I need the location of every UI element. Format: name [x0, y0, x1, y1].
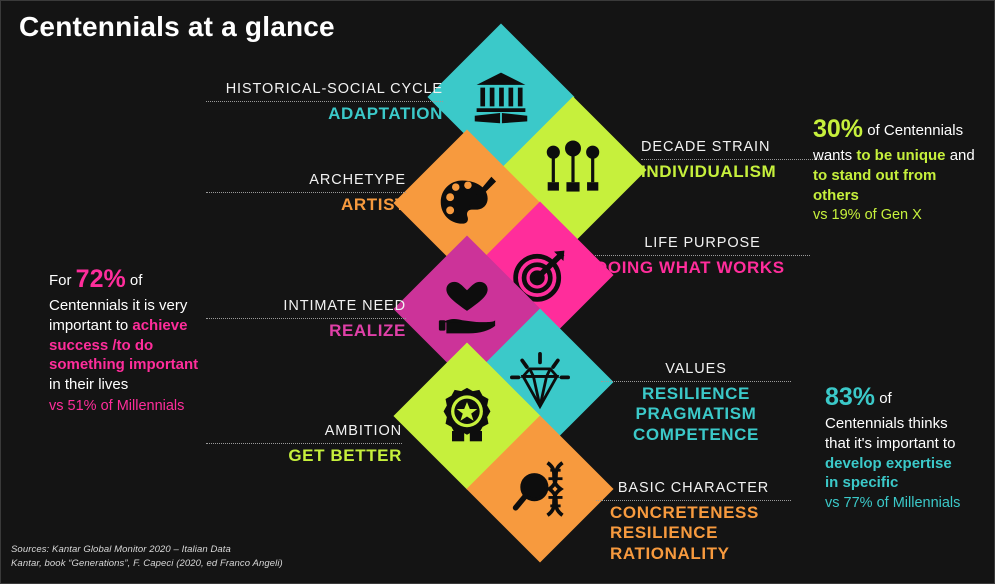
label-ambition: AMBITION GET BETTER	[206, 423, 402, 466]
label-values: VALUES RESILIENCE PRAGMATISM COMPETENCE	[601, 361, 791, 446]
label-caption: ARCHETYPE	[206, 172, 406, 189]
leader-line	[601, 381, 791, 382]
stat-line-2: Centennials thinks	[825, 414, 995, 434]
lollipop-signs-icon	[543, 140, 603, 200]
leader-line	[595, 255, 810, 256]
sources-line-1: Sources: Kantar Global Monitor 2020 – It…	[11, 543, 283, 557]
stat-block-83: 83% of Centennials thinks that it's impo…	[825, 381, 995, 513]
slide-canvas: Centennials at a glance	[0, 0, 995, 584]
bank-columns-icon	[471, 67, 531, 127]
stat-post: of	[875, 390, 892, 407]
label-decade-strain: DECADE STRAIN INDIVIDUALISM	[641, 139, 841, 182]
label-caption: VALUES	[601, 361, 791, 378]
leader-line	[206, 318, 406, 319]
stat-line-6: in their lives	[49, 375, 235, 395]
dna-magnifier-icon	[510, 459, 570, 519]
stat-line-4-highlight: others	[813, 186, 988, 206]
label-value: ADAPTATION	[206, 104, 443, 125]
leader-line	[206, 192, 406, 193]
stat-line-2-highlight: to be unique	[856, 147, 945, 164]
label-life-purpose: LIFE PURPOSE DOING WHAT WORKS	[595, 235, 810, 278]
label-value: RESILIENCE PRAGMATISM COMPETENCE	[601, 384, 791, 446]
stat-line-3: that it's important to	[825, 434, 995, 454]
leader-line	[641, 159, 841, 160]
leader-line	[596, 500, 791, 501]
label-caption: BASIC CHARACTER	[596, 480, 791, 497]
leader-line	[206, 443, 402, 444]
stat-line-3-highlight: achieve	[132, 317, 187, 334]
stat-block-72: For 72% of Centennials it is very import…	[49, 263, 235, 416]
stat-comparison: vs 51% of Millennials	[49, 397, 235, 416]
stat-post: of	[126, 272, 143, 289]
label-intimate-need: INTIMATE NEED REALIZE	[206, 298, 406, 341]
page-title: Centennials at a glance	[19, 11, 335, 43]
stat-line-5-highlight: something important	[49, 355, 235, 375]
label-value: REALIZE	[206, 321, 406, 342]
label-value: ARTIST	[206, 195, 406, 216]
label-value: CONCRETENESS RESILIENCE RATIONALITY	[596, 503, 791, 565]
stat-comparison: vs 19% of Gen X	[813, 206, 988, 225]
stat-line-2: Centennials it is very	[49, 296, 235, 316]
stat-line-3-plain: important to	[49, 317, 132, 334]
sources-line-2: Kantar, book “Generations”, F. Capeci (2…	[11, 557, 283, 571]
label-value: DOING WHAT WORKS	[595, 258, 810, 279]
stat-line-2-tail: and	[946, 147, 975, 164]
stat-pre: For	[49, 272, 76, 289]
label-caption: HISTORICAL-SOCIAL CYCLE	[206, 81, 443, 98]
stat-percent: 83%	[825, 383, 875, 411]
label-value: GET BETTER	[206, 446, 402, 467]
label-caption: LIFE PURPOSE	[595, 235, 810, 252]
label-historical-social-cycle: HISTORICAL-SOCIAL CYCLE ADAPTATION	[206, 81, 443, 124]
stat-comparison: vs 77% of Millennials	[825, 494, 995, 513]
label-caption: DECADE STRAIN	[641, 139, 841, 156]
stat-percent: 72%	[76, 265, 126, 293]
label-caption: AMBITION	[206, 423, 402, 440]
stat-percent: 30%	[813, 115, 863, 143]
leader-line	[206, 101, 443, 102]
palette-brush-icon	[437, 173, 497, 233]
stat-line-4-highlight: success /to do	[49, 336, 235, 356]
stat-line-3-highlight: to stand out from	[813, 166, 988, 186]
sources-footnote: Sources: Kantar Global Monitor 2020 – It…	[11, 543, 283, 571]
heart-in-hand-icon	[437, 279, 497, 339]
stat-line-2-plain: wants	[813, 147, 856, 164]
label-archetype: ARCHETYPE ARTIST	[206, 172, 406, 215]
stat-block-30: 30% of Centennials wants to be unique an…	[813, 113, 988, 226]
stat-post: of Centennials	[863, 122, 963, 139]
label-basic-character: BASIC CHARACTER CONCRETENESS RESILIENCE …	[596, 480, 791, 565]
award-badge-icon	[437, 386, 497, 446]
label-caption: INTIMATE NEED	[206, 298, 406, 315]
stat-line-4-highlight: develop expertise	[825, 454, 995, 474]
stat-line-5-highlight: in specific	[825, 473, 995, 493]
label-value: INDIVIDUALISM	[641, 162, 841, 183]
